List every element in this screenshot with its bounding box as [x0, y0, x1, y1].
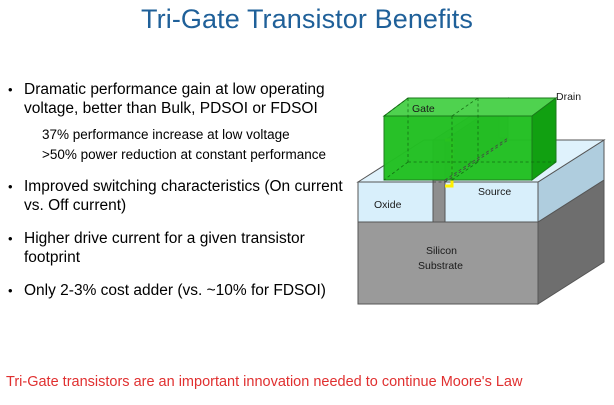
bullet-point-icon: •	[8, 80, 24, 99]
list-item: • Higher drive current for a given trans…	[8, 229, 360, 267]
sub-item-label: >50% power reduction at constant perform…	[42, 145, 360, 165]
oxide-label: Oxide	[374, 199, 402, 211]
list-item: 37% performance increase at low voltage	[42, 125, 360, 145]
tri-gate-transistor-diagram: Gate Drain Source Oxide Silicon Substrat…	[348, 82, 614, 322]
transistor-svg: Gate Drain Source Oxide Silicon Substrat…	[348, 82, 614, 322]
footer-statement: Tri-Gate transistors are an important in…	[6, 374, 610, 390]
list-item: >50% power reduction at constant perform…	[42, 145, 360, 165]
substrate-label-line1: Silicon	[426, 245, 457, 257]
drain-label: Drain	[556, 91, 581, 103]
gate-label: Gate	[412, 103, 435, 115]
bullet-point-icon: •	[8, 281, 24, 300]
substrate-label-line2: Substrate	[418, 260, 463, 272]
source-label: Source	[478, 186, 511, 198]
bullet-point-icon: •	[8, 177, 24, 196]
benefits-bullet-list: • Dramatic performance gain at low opera…	[8, 80, 360, 311]
list-item-label: Only 2-3% cost adder (vs. ~10% for FDSOI…	[24, 281, 360, 300]
sub-item-label: 37% performance increase at low voltage	[42, 125, 360, 145]
page-title: Tri-Gate Transistor Benefits	[0, 4, 614, 35]
bullet-point-icon: •	[8, 229, 24, 248]
slide-root: Tri-Gate Transistor Benefits • Dramatic …	[0, 0, 614, 405]
list-item-label: Higher drive current for a given transis…	[24, 229, 360, 267]
list-item-label: Dramatic performance gain at low operati…	[24, 80, 360, 118]
gate-electrode-shape	[384, 98, 556, 180]
list-item: • Dramatic performance gain at low opera…	[8, 80, 360, 118]
sub-bullet-group: 37% performance increase at low voltage …	[8, 125, 360, 165]
list-item: • Only 2-3% cost adder (vs. ~10% for FDS…	[8, 281, 360, 300]
list-item: • Improved switching characteristics (On…	[8, 177, 360, 215]
list-item-label: Improved switching characteristics (On c…	[24, 177, 360, 215]
